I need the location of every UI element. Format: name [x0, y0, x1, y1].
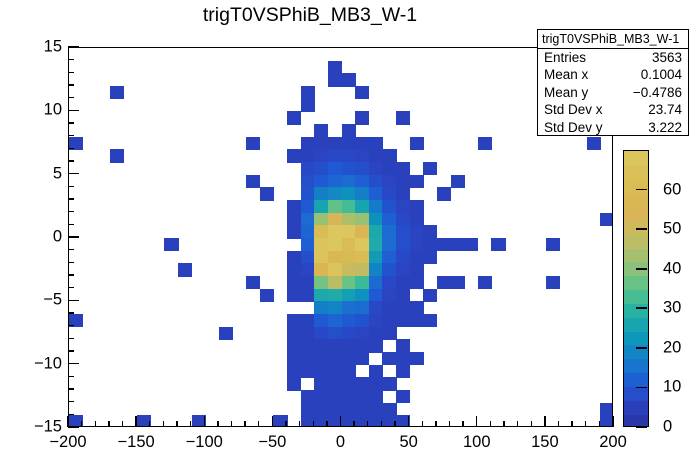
heatmap-cell [382, 327, 396, 340]
heatmap-cell [369, 137, 383, 150]
y-axis-minor-tick [68, 338, 74, 339]
heatmap-cell [410, 200, 424, 213]
heatmap-cell [314, 390, 328, 403]
heatmap-cell [396, 225, 410, 238]
heatmap-cell [287, 111, 301, 124]
y-axis-tick-label: 15 [4, 38, 62, 57]
heatmap-cell [314, 200, 328, 213]
heatmap-cell [396, 200, 410, 213]
y-axis-tick-label: −10 [4, 354, 62, 373]
heatmap-cell [355, 301, 369, 314]
heatmap-cell [328, 301, 342, 314]
heatmap-cells [69, 48, 612, 426]
x-axis-minor-tick [558, 421, 559, 427]
y-axis-major-tick [68, 426, 79, 427]
heatmap-cell [287, 225, 301, 238]
stats-row-value: 3563 [652, 49, 682, 66]
heatmap-cell [328, 276, 342, 289]
heatmap-cell [301, 213, 315, 226]
colorbar-tick [636, 228, 647, 230]
x-axis-minor-tick [394, 421, 395, 427]
y-axis-minor-tick [68, 388, 74, 389]
y-axis-minor-tick [68, 287, 74, 288]
heatmap-cell [382, 175, 396, 188]
heatmap-cell [314, 301, 328, 314]
y-axis-minor-tick [68, 186, 74, 187]
heatmap-cell [410, 225, 424, 238]
x-axis-minor-tick [381, 421, 382, 427]
heatmap-cell [314, 175, 328, 188]
x-axis-minor-tick [517, 421, 518, 427]
stats-header: trigT0VSPhiB_MB3_W-1 [538, 30, 688, 49]
y-axis-minor-tick [68, 224, 74, 225]
heatmap-cell [287, 251, 301, 264]
heatmap-cell [410, 175, 424, 188]
heatmap-cell [287, 377, 301, 390]
x-axis-minor-tick [190, 421, 191, 427]
heatmap-cell [355, 175, 369, 188]
heatmap-cell [396, 390, 410, 403]
heatmap-cell [396, 251, 410, 264]
heatmap-cell [301, 390, 315, 403]
stats-row-key: Std Dev x [544, 101, 603, 118]
heatmap-cell [396, 187, 410, 200]
heatmap-cell [342, 339, 356, 352]
heatmap-cell [328, 352, 342, 365]
x-axis-minor-tick [326, 421, 327, 427]
heatmap-cell [342, 352, 356, 365]
y-axis-major-tick [68, 236, 79, 237]
heatmap-cell [410, 213, 424, 226]
stats-row-value: −0.4786 [633, 84, 682, 101]
heatmap-cell [355, 352, 369, 365]
x-axis-minor-tick [503, 421, 504, 427]
x-axis-minor-tick [462, 421, 463, 427]
y-axis-minor-tick [68, 198, 74, 199]
heatmap-cell [301, 187, 315, 200]
heatmap-cell [355, 200, 369, 213]
heatmap-cell [342, 251, 356, 264]
colorbar-band [624, 359, 648, 373]
heatmap-cell [314, 162, 328, 175]
heatmap-cell [301, 149, 315, 162]
x-axis-tick-label: −50 [258, 433, 286, 452]
heatmap-cell [382, 200, 396, 213]
stats-row-value: 23.74 [648, 101, 682, 118]
stats-row: Std Dev x23.74 [538, 101, 688, 118]
stats-box: trigT0VSPhiB_MB3_W-1 Entries3563Mean x0.… [537, 29, 689, 136]
heatmap-cell [301, 339, 315, 352]
heatmap-cell [287, 339, 301, 352]
y-axis-tick-label: −5 [4, 291, 62, 310]
heatmap-cell [178, 263, 192, 276]
heatmap-cell [342, 187, 356, 200]
heatmap-cell [437, 187, 451, 200]
heatmap-cell [396, 339, 410, 352]
heatmap-cell [369, 314, 383, 327]
heatmap-cell [396, 213, 410, 226]
heatmap-cell [342, 238, 356, 251]
stats-row-key: Entries [544, 49, 586, 66]
y-axis-major-tick [68, 110, 79, 111]
heatmap-cell [328, 137, 342, 150]
heatmap-cell [396, 276, 410, 289]
y-axis-minor-tick [68, 97, 74, 98]
heatmap-cell [355, 314, 369, 327]
y-axis-minor-tick [68, 274, 74, 275]
heatmap-cell [328, 403, 342, 416]
x-axis-tick-label: 100 [463, 433, 491, 452]
heatmap-cell [355, 263, 369, 276]
heatmap-cell [355, 162, 369, 175]
heatmap-cell [410, 352, 424, 365]
colorbar-band [624, 317, 648, 331]
heatmap-cell [369, 187, 383, 200]
heatmap-cell [396, 289, 410, 302]
x-axis-minor-tick [435, 421, 436, 427]
colorbar-tick-label: 20 [663, 338, 681, 357]
colorbar-band [624, 400, 648, 414]
heatmap-cell [328, 289, 342, 302]
heatmap-cell [328, 377, 342, 390]
heatmap-cell [546, 276, 560, 289]
heatmap-cell [600, 415, 612, 426]
heatmap-cell [355, 403, 369, 416]
heatmap-cell [382, 403, 396, 416]
y-axis-minor-tick [68, 135, 74, 136]
heatmap-cell [464, 238, 478, 251]
heatmap-cell [355, 377, 369, 390]
heatmap-cell [355, 86, 369, 99]
heatmap-cell [491, 238, 505, 251]
heatmap-cell [301, 162, 315, 175]
heatmap-cell [328, 187, 342, 200]
heatmap-cell [451, 276, 465, 289]
heatmap-cell [369, 403, 383, 416]
x-axis-minor-tick [531, 421, 532, 427]
heatmap-cell [369, 200, 383, 213]
x-axis-minor-tick [449, 421, 450, 427]
x-axis-minor-tick [217, 421, 218, 427]
y-axis-minor-tick [68, 122, 74, 123]
stats-row-key: Mean y [544, 84, 588, 101]
x-axis-major-tick [408, 416, 409, 427]
x-axis-minor-tick [367, 421, 368, 427]
heatmap-cell [246, 276, 260, 289]
heatmap-cell [301, 327, 315, 340]
heatmap-cell [423, 314, 437, 327]
heatmap-cell [382, 301, 396, 314]
colorbar-axis: 0102030405060 [649, 150, 695, 427]
heatmap-cell [410, 301, 424, 314]
heatmap-cell [314, 365, 328, 378]
heatmap-cell [342, 175, 356, 188]
heatmap-cell [342, 225, 356, 238]
heatmap-cell [314, 213, 328, 226]
y-axis-tick-label: 10 [4, 101, 62, 120]
x-axis-minor-tick [244, 421, 245, 427]
heatmap-cell [423, 289, 437, 302]
y-axis-minor-tick [68, 249, 74, 250]
x-axis-minor-tick [258, 421, 259, 427]
heatmap-cell [369, 149, 383, 162]
heatmap-cell [369, 377, 383, 390]
heatmap-cell [328, 251, 342, 264]
heatmap-cell [587, 137, 601, 150]
y-axis-tick-label: 0 [4, 228, 62, 247]
page-title: trigT0VSPhiB_MB3_W-1 [0, 4, 620, 27]
heatmap-cell [301, 238, 315, 251]
colorbar-band [624, 179, 648, 193]
colorbar-tick-label: 60 [663, 180, 681, 199]
heatmap-cell [382, 162, 396, 175]
heatmap-cell [355, 238, 369, 251]
heatmap-cell [423, 238, 437, 251]
heatmap-cell [369, 225, 383, 238]
heatmap-cell [342, 365, 356, 378]
heatmap-cell [287, 149, 301, 162]
heatmap-cell [382, 225, 396, 238]
heatmap-cell [369, 162, 383, 175]
heatmap-cell [342, 149, 356, 162]
x-axis-minor-tick [490, 421, 491, 427]
heatmap-cell [342, 213, 356, 226]
y-axis-minor-tick [68, 148, 74, 149]
y-axis-minor-tick [68, 414, 74, 415]
heatmap-cell [301, 137, 315, 150]
heatmap-cell [328, 390, 342, 403]
colorbar-band [624, 386, 648, 400]
x-axis-minor-tick [299, 421, 300, 427]
heatmap-cell [110, 149, 124, 162]
colorbar-band [624, 303, 648, 317]
stats-row: Mean x0.1004 [538, 66, 688, 83]
heatmap-cell [355, 225, 369, 238]
heatmap-cell [301, 352, 315, 365]
heatmap-cell [328, 213, 342, 226]
heatmap-cell [301, 99, 315, 112]
heatmap-cell [328, 162, 342, 175]
x-axis-major-tick [204, 416, 205, 427]
heatmap-cell [260, 289, 274, 302]
stats-rows: Entries3563Mean x0.1004Mean y−0.4786Std … [538, 49, 688, 136]
x-axis-minor-tick [599, 421, 600, 427]
heatmap-cell [342, 162, 356, 175]
stats-row: Entries3563 [538, 49, 688, 66]
colorbar-band [624, 276, 648, 290]
heatmap-cell [287, 289, 301, 302]
heatmap-cell [342, 289, 356, 302]
heatmap-cell [314, 403, 328, 416]
heatmap-cell [328, 238, 342, 251]
x-axis-minor-tick [95, 421, 96, 427]
stats-row: Mean y−0.4786 [538, 84, 688, 101]
heatmap-cell [369, 339, 383, 352]
y-axis-minor-tick [68, 211, 74, 212]
heatmap-cell [246, 137, 260, 150]
heatmap-cell [328, 149, 342, 162]
plot-frame [68, 47, 613, 427]
heatmap-cell [355, 327, 369, 340]
x-axis-minor-tick [108, 421, 109, 427]
heatmap-cell [382, 251, 396, 264]
heatmap-cell [287, 352, 301, 365]
heatmap-cell [314, 225, 328, 238]
x-axis-minor-tick [422, 421, 423, 427]
y-axis-minor-tick [68, 72, 74, 73]
heatmap-cell [396, 238, 410, 251]
heatmap-cell [314, 352, 328, 365]
heatmap-cell [342, 200, 356, 213]
heatmap-cell [314, 276, 328, 289]
x-axis-minor-tick [571, 421, 572, 427]
heatmap-cell [246, 175, 260, 188]
heatmap-cell [382, 352, 396, 365]
colorbar-band [624, 165, 648, 179]
heatmap-cell [396, 111, 410, 124]
y-axis-tick-label: 5 [4, 164, 62, 183]
heatmap-cell [328, 175, 342, 188]
heatmap-cell [382, 187, 396, 200]
heatmap-cell [410, 137, 424, 150]
stats-row-key: Std Dev y [544, 119, 603, 136]
colorbar-band [624, 331, 648, 345]
colorbar-band [624, 414, 648, 427]
heatmap-cell [396, 301, 410, 314]
heatmap-cell [287, 314, 301, 327]
heatmap-cell [355, 137, 369, 150]
y-axis-minor-tick [68, 59, 74, 60]
colorbar-band [624, 373, 648, 387]
heatmap-cell [301, 403, 315, 416]
heatmap-cell [328, 327, 342, 340]
heatmap-cell [478, 137, 492, 150]
colorbar-band [624, 248, 648, 262]
colorbar-band [624, 234, 648, 248]
heatmap-cell [287, 365, 301, 378]
colorbar-tick [636, 347, 647, 349]
heatmap-cell [410, 263, 424, 276]
heatmap-cell [314, 187, 328, 200]
y-axis-labels: −15−10−5051015 [0, 0, 62, 476]
heatmap-cell [382, 263, 396, 276]
x-axis-minor-tick [163, 421, 164, 427]
x-axis-minor-tick [585, 421, 586, 427]
heatmap-cell [355, 289, 369, 302]
heatmap-cell [355, 213, 369, 226]
heatmap-cell [328, 225, 342, 238]
heatmap-cell [478, 276, 492, 289]
x-axis-minor-tick [231, 421, 232, 427]
colorbar-band [624, 193, 648, 207]
y-axis-major-tick [68, 173, 79, 174]
heatmap-cell [437, 276, 451, 289]
x-axis-major-tick [544, 416, 545, 427]
x-axis-tick-label: 200 [599, 433, 627, 452]
heatmap-cell [355, 251, 369, 264]
colorbar-tick [636, 426, 647, 428]
heatmap-cell [369, 175, 383, 188]
heatmap-cell [369, 327, 383, 340]
heatmap-cell [314, 238, 328, 251]
heatmap-cell [410, 251, 424, 264]
heatmap-cell [301, 314, 315, 327]
y-axis-minor-tick [68, 84, 74, 85]
heatmap-cell [301, 200, 315, 213]
heatmap-cell [369, 238, 383, 251]
heatmap-cell [342, 301, 356, 314]
heatmap-cell [355, 187, 369, 200]
heatmap-cell [301, 86, 315, 99]
heatmap-cell [219, 327, 233, 340]
heatmap-cell [342, 263, 356, 276]
y-axis-tick-label: −15 [4, 418, 62, 437]
heatmap-cell [369, 213, 383, 226]
colorbar-tick [636, 387, 647, 389]
heatmap-cell [342, 137, 356, 150]
heatmap-cell [342, 276, 356, 289]
heatmap-cell [342, 403, 356, 416]
x-axis-minor-tick [285, 421, 286, 427]
x-axis-minor-tick [176, 421, 177, 427]
heatmap-cell [301, 365, 315, 378]
heatmap-cell [382, 314, 396, 327]
heatmap-cell [342, 314, 356, 327]
x-axis-tick-label: 50 [399, 433, 417, 452]
heatmap-cell [410, 238, 424, 251]
heatmap-cell [342, 327, 356, 340]
heatmap-cell [301, 225, 315, 238]
heatmap-cell [355, 339, 369, 352]
heatmap-cell [342, 124, 356, 137]
x-axis-minor-tick [353, 421, 354, 427]
heatmap-cell [423, 162, 437, 175]
colorbar-tick [636, 189, 647, 191]
heatmap-cell [600, 403, 612, 416]
x-axis-minor-tick [122, 421, 123, 427]
heatmap-cell [451, 238, 465, 251]
heatmap-cell [369, 301, 383, 314]
heatmap-cell [410, 276, 424, 289]
heatmap-cell [546, 238, 560, 251]
heatmap-cell [600, 213, 612, 226]
colorbar-band [624, 290, 648, 304]
colorbar-band [624, 206, 648, 220]
heatmap-cell [164, 238, 178, 251]
x-axis-tick-label: 150 [531, 433, 559, 452]
y-axis-minor-tick [68, 350, 74, 351]
heatmap-cell [328, 365, 342, 378]
heatmap-cell [328, 73, 342, 86]
heatmap-cell [301, 251, 315, 264]
heatmap-cell [110, 86, 124, 99]
heatmap-cell [369, 365, 383, 378]
heatmap-cell [328, 61, 342, 74]
heatmap-cell [342, 377, 356, 390]
colorbar [623, 150, 649, 427]
heatmap-cell [369, 251, 383, 264]
x-axis-minor-tick [149, 421, 150, 427]
heatmap-cell [314, 137, 328, 150]
heatmap-cell [314, 339, 328, 352]
heatmap-cell [314, 377, 328, 390]
heatmap-cell [287, 327, 301, 340]
x-axis-major-tick [340, 416, 341, 427]
heatmap-cell [328, 200, 342, 213]
x-axis-tick-label: −150 [118, 433, 155, 452]
heatmap-cell [301, 263, 315, 276]
heatmap-cell [355, 149, 369, 162]
